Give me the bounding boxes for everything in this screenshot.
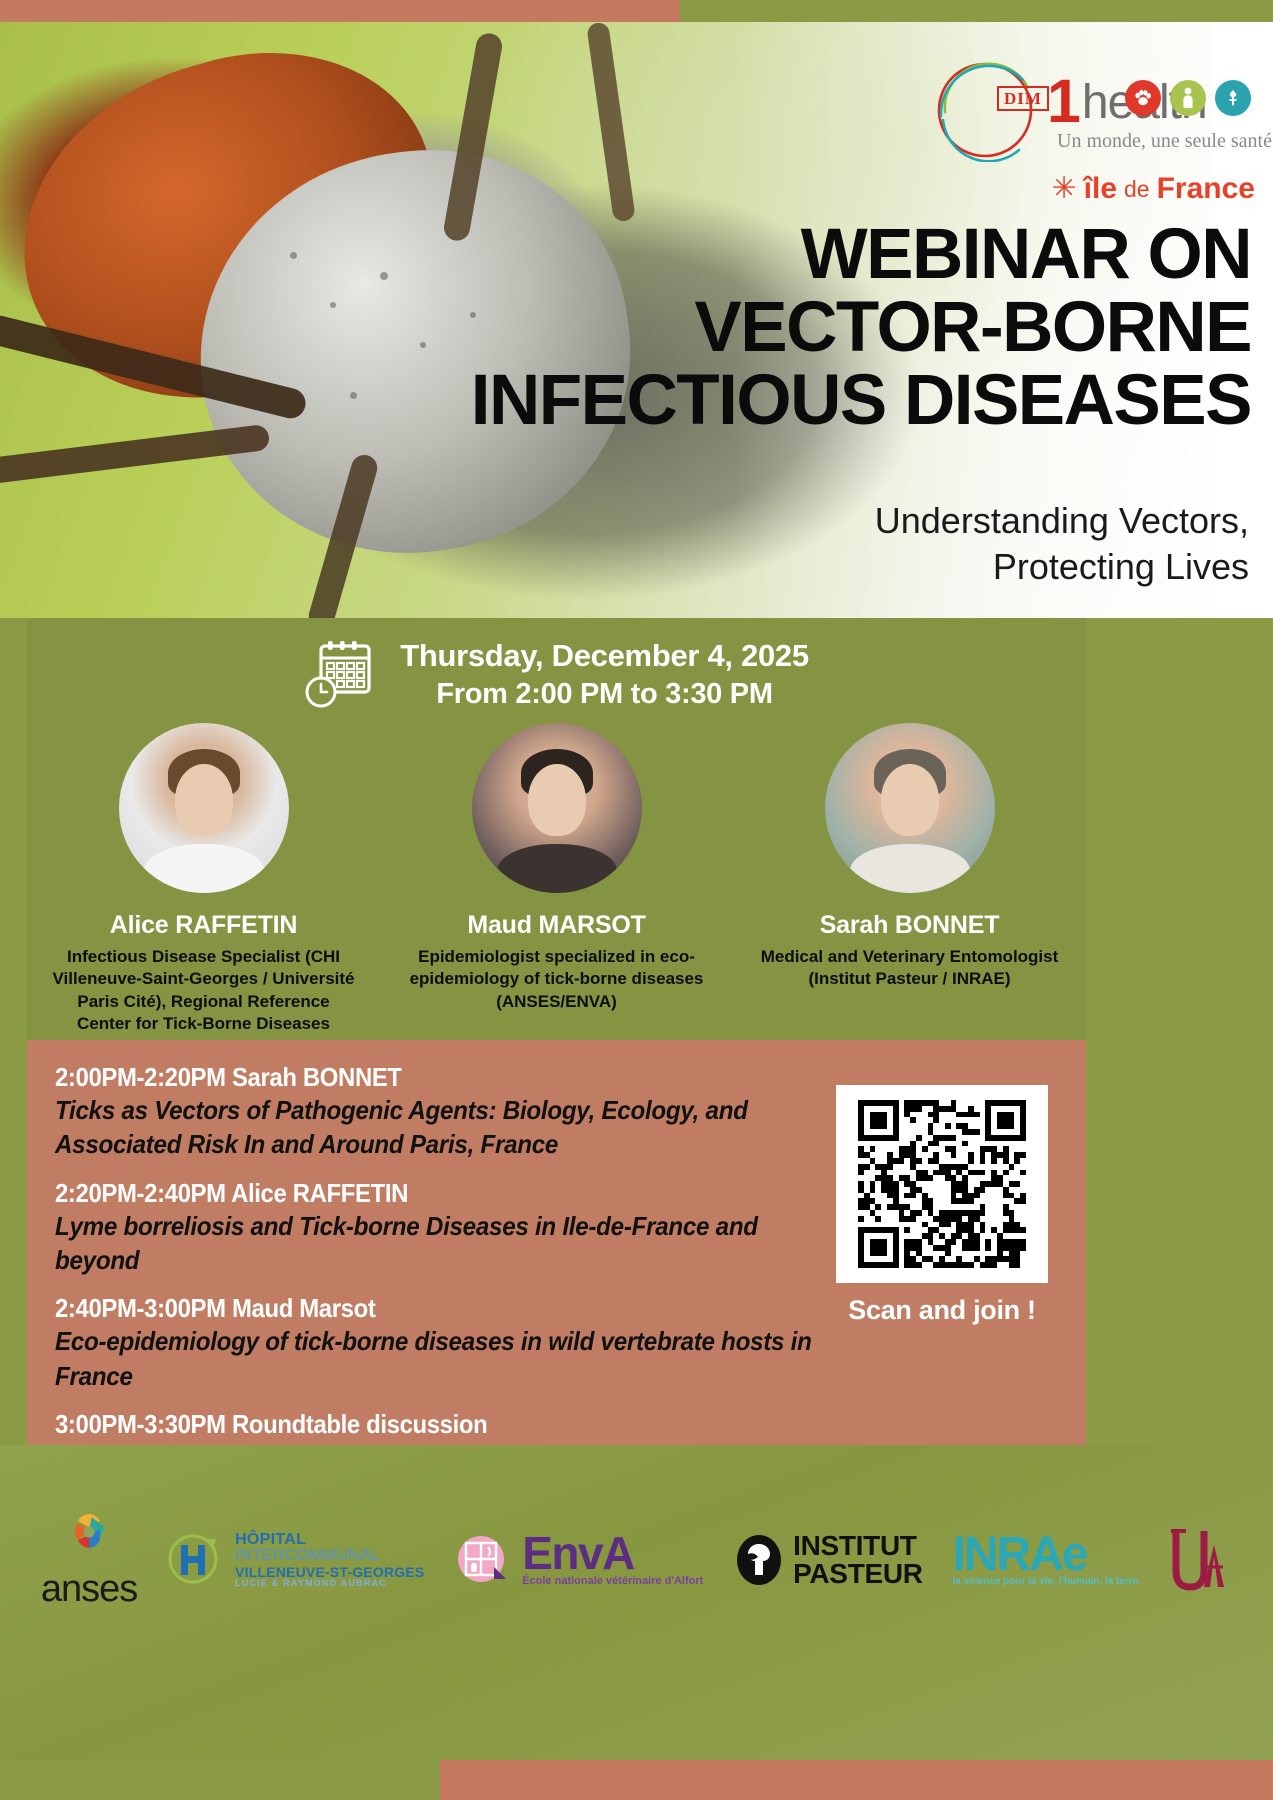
idf-ile: île bbox=[1084, 172, 1117, 206]
paw-icon bbox=[1125, 80, 1161, 116]
webinar-poster: DIM1health Un monde, une seule santé ✳ î… bbox=[0, 0, 1273, 1800]
enva-mark-icon bbox=[454, 1529, 514, 1591]
event-datetime: Thursday, December 4, 2025 From 2:00 PM … bbox=[27, 638, 1086, 711]
title-line-2: VECTOR-BORNE bbox=[411, 291, 1251, 364]
hospital-line-3: VILLENEUVE-ST-GEORGES bbox=[235, 1565, 424, 1579]
page-title: WEBINAR ON VECTOR-BORNE INFECTIOUS DISEA… bbox=[411, 218, 1251, 437]
title-line-1: WEBINAR ON bbox=[411, 218, 1251, 291]
one-health-pillar-icons bbox=[1125, 80, 1251, 116]
speaker-name: Maud MARSOT bbox=[467, 911, 645, 940]
hospital-wordmark: HÔPITAL INTERCOMMUNAL VILLENEUVE-ST-GEOR… bbox=[235, 1532, 424, 1588]
qr-code[interactable] bbox=[836, 1085, 1048, 1283]
avatar bbox=[472, 723, 642, 893]
enva-subtitle: École nationale vétérinaire d'Alfort bbox=[522, 1575, 703, 1587]
avatar bbox=[825, 723, 995, 893]
event-date: Thursday, December 4, 2025 bbox=[400, 638, 809, 674]
speaker-bio: Medical and Veterinary Entomologist (Ins… bbox=[755, 946, 1065, 991]
idf-france: France bbox=[1157, 172, 1255, 206]
speaker-card: Sarah BONNET Medical and Veterinary Ento… bbox=[733, 723, 1086, 1036]
top-bar-right-green bbox=[680, 0, 1273, 22]
universite-u-icon bbox=[1168, 1523, 1232, 1597]
page-subtitle: Understanding Vectors, Protecting Lives bbox=[489, 498, 1249, 590]
tick-leg-4 bbox=[586, 22, 636, 223]
event-details-panel: Thursday, December 4, 2025 From 2:00 PM … bbox=[27, 618, 1086, 1040]
speaker-bio: Infectious Disease Specialist (CHI Ville… bbox=[49, 946, 359, 1036]
brand-tagline: Un monde, une seule santé bbox=[1057, 130, 1272, 153]
leaf-icon bbox=[1215, 80, 1251, 116]
event-time: From 2:00 PM to 3:30 PM bbox=[400, 678, 809, 711]
logo-institut-pasteur: INSTITUT PASTEUR bbox=[733, 1532, 923, 1588]
numeral-one: 1 bbox=[1047, 78, 1081, 126]
dim-badge: DIM bbox=[997, 86, 1049, 111]
agenda-section: 2:00PM-2:20PM Sarah BONNET Ticks as Vect… bbox=[27, 1040, 1086, 1445]
speaker-name: Sarah BONNET bbox=[820, 911, 1000, 940]
logo-anses: anses bbox=[41, 1510, 137, 1611]
ile-de-france-logo: ✳ îledeFrance bbox=[1052, 172, 1255, 206]
footer-partners: anses HÔPITAL INTERCOMMUNAL VILLENEUVE-S… bbox=[0, 1445, 1273, 1800]
agenda-item: 3:00PM-3:30PM Roundtable discussion bbox=[55, 1409, 1062, 1440]
footer-bottom-bar bbox=[0, 1760, 1273, 1800]
speaker-card: Alice RAFFETIN Infectious Disease Specia… bbox=[27, 723, 380, 1036]
top-bar-left-pink bbox=[0, 0, 680, 22]
idf-de: de bbox=[1124, 176, 1150, 203]
dim-one-health-logo: DIM1health Un monde, une seule santé bbox=[925, 52, 1255, 172]
title-line-3: INFECTIOUS DISEASES bbox=[411, 364, 1251, 437]
agenda-time-speaker: 3:00PM-3:30PM Roundtable discussion bbox=[55, 1409, 981, 1440]
logo-enva: EnvA École nationale vétérinaire d'Alfor… bbox=[454, 1529, 703, 1591]
pasteur-line-1: INSTITUT bbox=[793, 1532, 923, 1560]
anses-wordmark: anses bbox=[41, 1568, 137, 1611]
partner-logo-row: anses HÔPITAL INTERCOMMUNAL VILLENEUVE-S… bbox=[0, 1500, 1273, 1620]
footer-bottom-pink bbox=[440, 1760, 1273, 1800]
subtitle-line-2: Protecting Lives bbox=[489, 544, 1249, 590]
pasteur-wordmark: INSTITUT PASTEUR bbox=[793, 1532, 923, 1588]
subtitle-line-1: Understanding Vectors, bbox=[489, 498, 1249, 544]
speaker-bio: Epidemiologist specialized in eco-epidem… bbox=[402, 946, 712, 1013]
hospital-line-2: INTERCOMMUNAL bbox=[235, 1548, 424, 1564]
hospital-line-1: HÔPITAL bbox=[235, 1532, 424, 1548]
logo-universite bbox=[1168, 1523, 1232, 1597]
logo-inrae: INRAe la science pour la vie, l'humain, … bbox=[953, 1533, 1139, 1587]
hospital-h-icon bbox=[167, 1529, 227, 1591]
agenda-talk-title: Ticks as Vectors of Pathogenic Agents: B… bbox=[55, 1093, 818, 1162]
inrae-wordmark: INRAe bbox=[953, 1533, 1087, 1576]
pasteur-line-2: PASTEUR bbox=[793, 1560, 923, 1588]
anses-mark-icon bbox=[58, 1510, 120, 1566]
hospital-line-4: LUCIE & RAYMOND AUBRAC bbox=[235, 1579, 424, 1588]
top-color-bar bbox=[0, 0, 1273, 22]
calendar-clock-icon bbox=[304, 639, 378, 711]
inrae-tagline: la science pour la vie, l'humain, la ter… bbox=[953, 1576, 1139, 1587]
idf-star-icon: ✳ bbox=[1052, 174, 1077, 204]
enva-wordmark: EnvA bbox=[522, 1533, 703, 1574]
speaker-card: Maud MARSOT Epidemiologist specialized i… bbox=[380, 723, 733, 1036]
logo-hopital-intercommunal: HÔPITAL INTERCOMMUNAL VILLENEUVE-ST-GEOR… bbox=[167, 1529, 424, 1591]
speakers-list: Alice RAFFETIN Infectious Disease Specia… bbox=[27, 723, 1086, 1036]
qr-code-matrix bbox=[858, 1100, 1026, 1268]
agenda-talk-title: Lyme borreliosis and Tick-borne Diseases… bbox=[55, 1209, 818, 1278]
avatar bbox=[119, 723, 289, 893]
speaker-name: Alice RAFFETIN bbox=[110, 911, 298, 940]
person-icon bbox=[1170, 80, 1206, 116]
pasteur-mark-icon bbox=[733, 1532, 785, 1588]
qr-caption: Scan and join ! bbox=[836, 1295, 1048, 1326]
agenda-talk-title: Eco-epidemiology of tick-borne diseases … bbox=[55, 1324, 818, 1393]
